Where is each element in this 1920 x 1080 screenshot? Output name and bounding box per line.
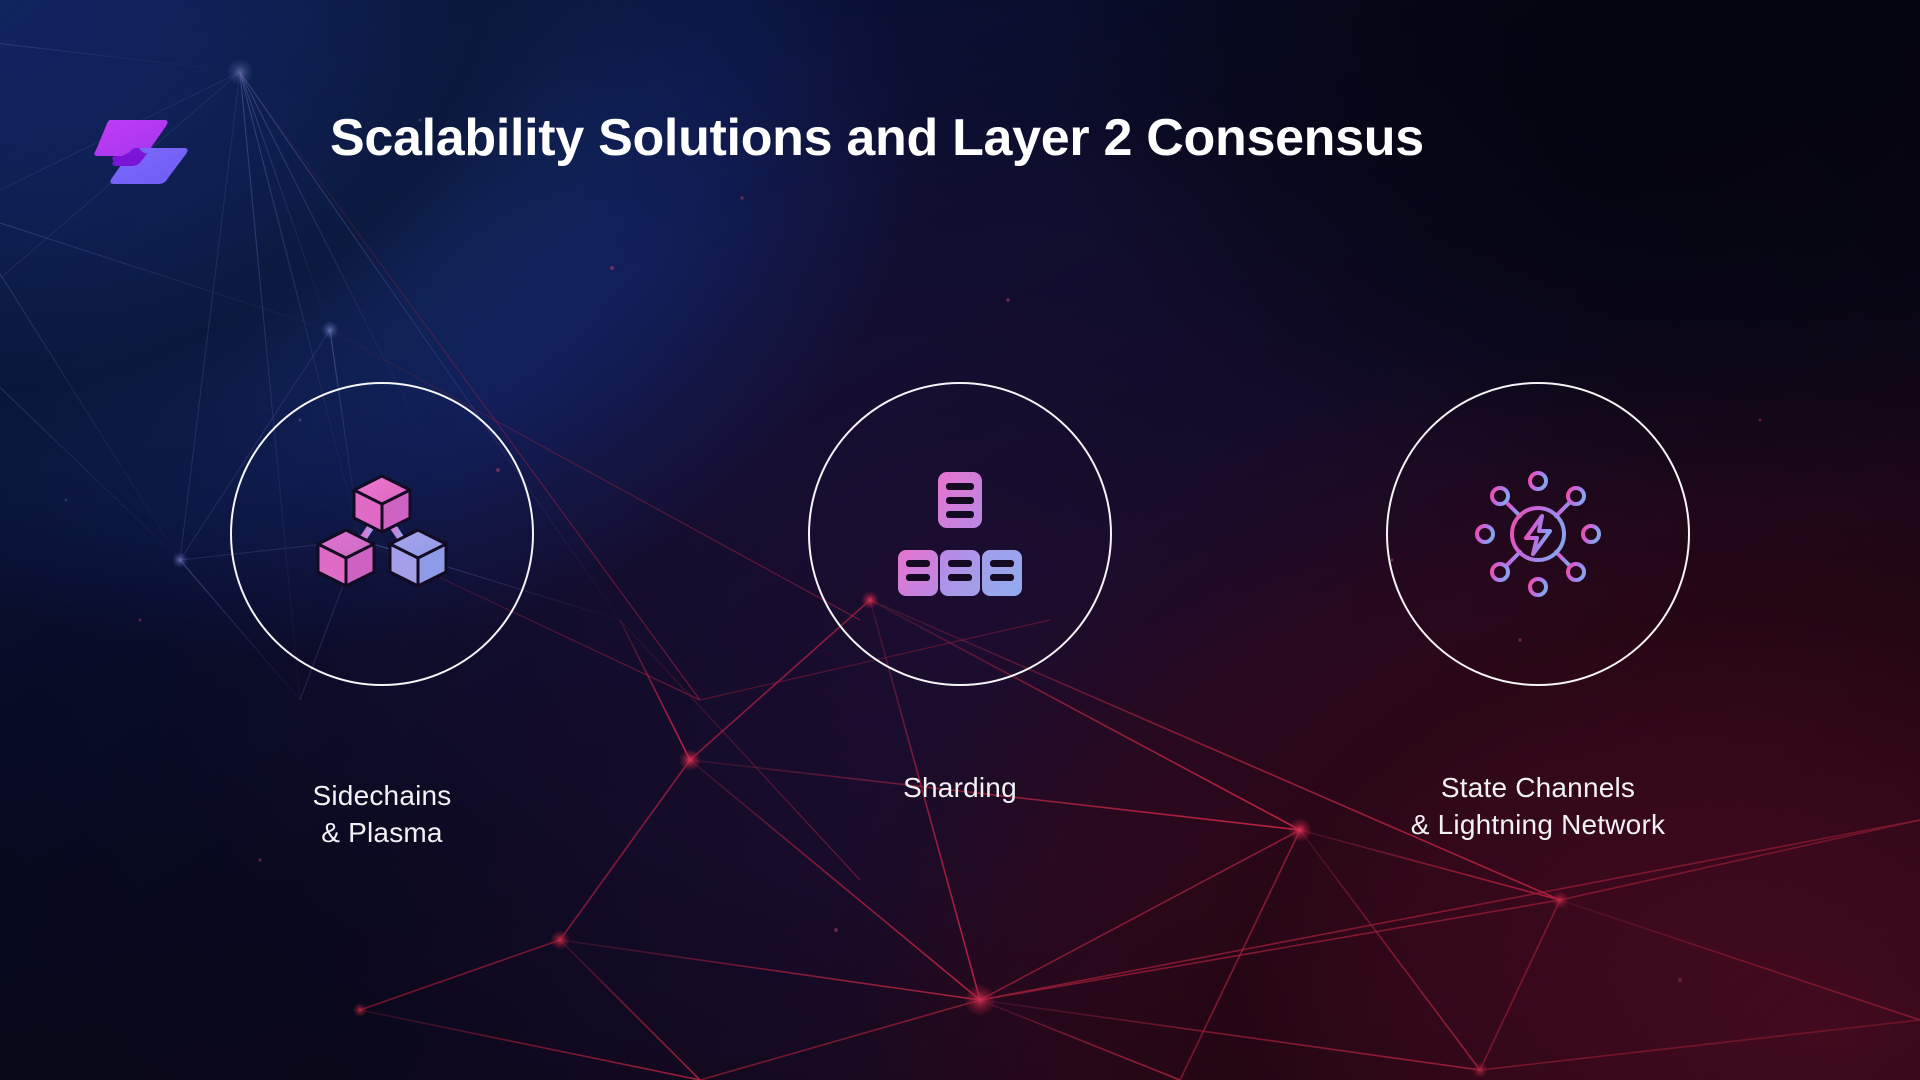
- icon-circle-sidechains: [230, 382, 534, 686]
- concept-label-sharding: Sharding: [903, 770, 1017, 807]
- concept-item-sharding[interactable]: Sharding: [770, 382, 1150, 807]
- slide-canvas: Scalability Solutions and Layer 2 Consen…: [0, 0, 1920, 1080]
- concept-item-sidechains-plasma[interactable]: Sidechains & Plasma: [192, 382, 572, 852]
- concept-item-state-channels[interactable]: State Channels & Lightning Network: [1348, 382, 1728, 844]
- database-sharding-icon: [896, 470, 1024, 598]
- concepts-row: Sidechains & Plasma: [0, 382, 1920, 852]
- page-title: Scalability Solutions and Layer 2 Consen…: [330, 108, 1424, 168]
- blockchain-cubes-icon: [312, 470, 452, 598]
- icon-circle-state-channels: [1386, 382, 1690, 686]
- brand-logo: [92, 118, 190, 186]
- concept-label-state-channels: State Channels & Lightning Network: [1411, 770, 1665, 844]
- lightning-network-nodes-icon: [1470, 466, 1606, 602]
- concept-label-sidechains: Sidechains & Plasma: [313, 778, 452, 852]
- icon-circle-sharding: [808, 382, 1112, 686]
